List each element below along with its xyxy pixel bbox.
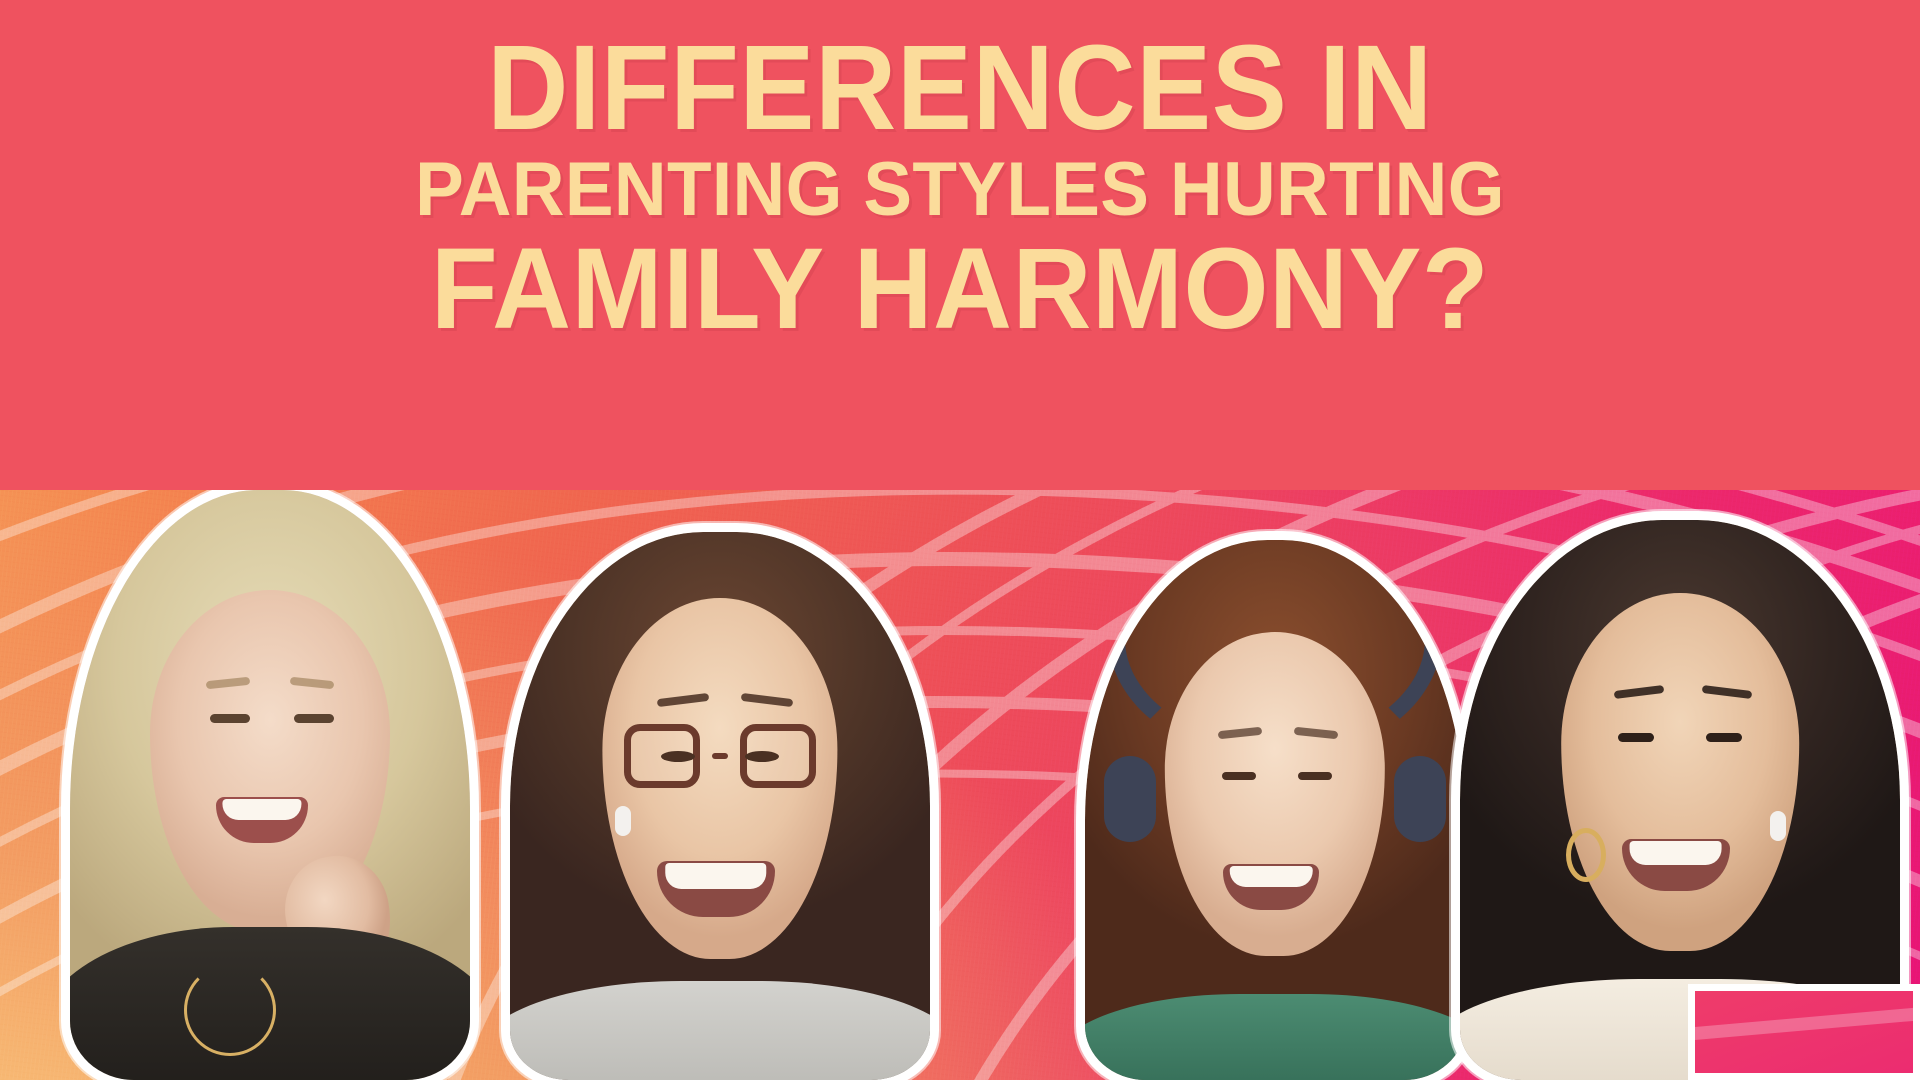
panelist-four-eye-left — [1618, 733, 1654, 742]
panelist-three — [1085, 540, 1465, 1080]
panelist-three-eye-right — [1298, 772, 1332, 780]
bottom-right-panel-fill — [1695, 991, 1913, 1073]
title-line-2: PARENTING STYLES HURTING — [38, 152, 1881, 227]
video-thumbnail: DIFFERENCES IN PARENTING STYLES HURTING … — [0, 0, 1920, 1080]
panelist-three-earcup-left — [1104, 756, 1156, 842]
panelist-three-teeth — [1230, 866, 1313, 887]
title-banner: DIFFERENCES IN PARENTING STYLES HURTING … — [0, 0, 1920, 490]
title-block: DIFFERENCES IN PARENTING STYLES HURTING … — [0, 28, 1920, 347]
panelist-two-earbud — [615, 806, 631, 836]
panelist-four-earbud — [1770, 811, 1786, 841]
panelist-one-necklace — [184, 964, 276, 1056]
panelist-three-earcup-right — [1394, 756, 1446, 842]
panelist-four-teeth — [1629, 841, 1722, 865]
panelist-one-teeth — [222, 799, 301, 820]
title-line-3: FAMILY HARMONY? — [48, 233, 1872, 347]
bottom-right-panel — [1688, 984, 1920, 1080]
panelist-two-clothing — [510, 981, 930, 1080]
panelist-three-clothing — [1085, 994, 1465, 1080]
panelist-two — [510, 532, 930, 1080]
panelist-two-glasses — [624, 724, 816, 788]
title-line-1: DIFFERENCES IN — [67, 28, 1853, 148]
panelist-four-eye-right — [1706, 733, 1742, 742]
panelist-row — [0, 440, 1920, 1080]
panelist-three-eye-left — [1222, 772, 1256, 780]
panelist-one-eye-right — [294, 714, 334, 723]
panelist-one-eye-left — [210, 714, 250, 723]
panelist-two-teeth — [665, 863, 766, 889]
panelist-four-earring-left — [1566, 828, 1606, 882]
panelist-one — [70, 490, 470, 1080]
glasses-bridge — [712, 753, 728, 759]
